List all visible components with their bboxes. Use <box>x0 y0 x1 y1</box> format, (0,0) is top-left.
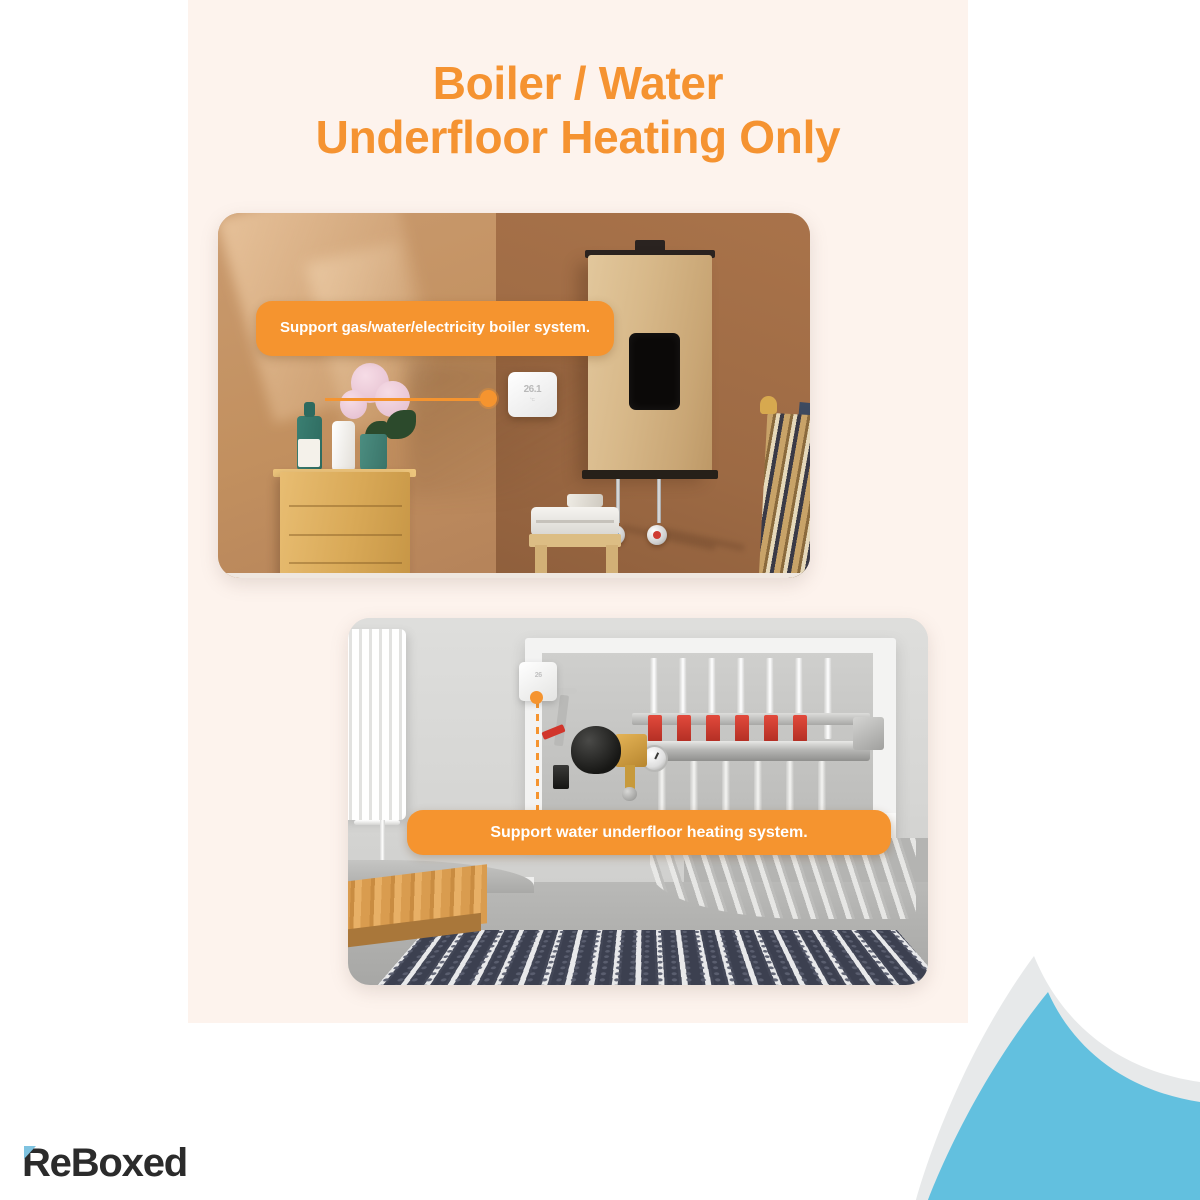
flow-tube <box>824 658 833 739</box>
callout-connector-dot <box>480 390 497 407</box>
callout-boiler-support: Support gas/water/electricity boiler sys… <box>256 301 614 356</box>
underfloor-studs <box>371 930 928 985</box>
manifold-valve-cap <box>764 715 778 741</box>
manifold-valve-cap <box>706 715 720 741</box>
cabinet-seam <box>289 562 401 564</box>
hot-valve-icon <box>647 525 667 545</box>
green-soap-bottle <box>297 416 322 471</box>
water-pipe <box>657 479 661 523</box>
cabinet-seam <box>289 505 401 507</box>
thermostat-icon: 26.1 °C <box>508 372 557 418</box>
brand-logo-accent-icon <box>24 1146 36 1159</box>
manifold-rail <box>632 741 870 761</box>
callout-underfloor-support: Support water underfloor heating system. <box>407 810 891 855</box>
rolled-towel <box>567 494 603 507</box>
poster-canvas: Boiler / Water Underfloor Heating Only <box>0 0 1200 1200</box>
callout-dashed-line <box>536 701 539 813</box>
boiler-room-photo: 26.1 °C <box>218 213 810 578</box>
page-title-line-1: Boiler / Water <box>433 57 724 109</box>
boiler-display-panel <box>629 333 679 410</box>
black-valve <box>553 765 569 789</box>
thermostat-reading: 26 <box>519 672 557 679</box>
callout-connector-dot <box>530 691 543 704</box>
white-bottle <box>332 421 356 472</box>
manifold-end-unit <box>853 717 885 750</box>
circulation-pump-icon <box>571 726 620 774</box>
hanging-textile <box>758 412 810 578</box>
callout-connector-line <box>325 398 485 401</box>
vase <box>360 434 387 472</box>
wall-hook-icon <box>760 396 778 414</box>
brand-swoosh-icon <box>910 950 1200 1200</box>
folded-towel <box>531 507 620 536</box>
bottle-label <box>298 439 320 467</box>
manifold-valve-cap <box>735 715 749 741</box>
manifold-upper-rail <box>632 713 870 725</box>
brand-logo: ReBoxed <box>22 1140 187 1186</box>
bottle-pump <box>304 402 315 416</box>
manifold-valve-cap <box>677 715 691 741</box>
cabinet-seam <box>289 534 401 536</box>
underfloor-manifold-photo: 26 <box>348 618 928 985</box>
manifold-valve-cap <box>793 715 807 741</box>
floor-strip <box>218 573 810 578</box>
radiator-pipe-horizontal <box>354 820 400 825</box>
page-title-line-2: Underfloor Heating Only <box>188 110 968 164</box>
thermostat-unit: °C <box>508 397 557 402</box>
brand-logo-text: ReBoxed <box>22 1141 187 1186</box>
manifold-valve-cap <box>648 715 662 741</box>
boiler-base-trim <box>582 470 718 479</box>
thermostat-reading: 26.1 <box>508 384 557 395</box>
page-title: Boiler / Water Underfloor Heating Only <box>188 56 968 165</box>
column-radiator-icon <box>348 629 406 820</box>
